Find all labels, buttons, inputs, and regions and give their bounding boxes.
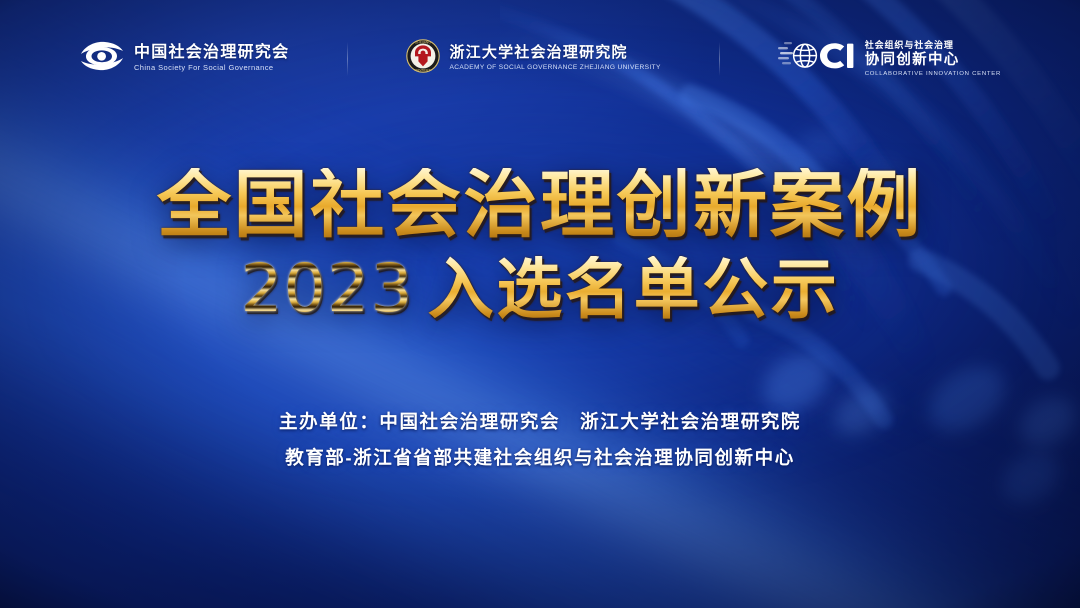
logo-name-cn: 浙江大学社会治理研究院 (449, 45, 660, 62)
headline-block: 全国社会治理创新案例 2023 入选名单公示 (0, 168, 1080, 322)
headline-line-2: 2023 入选名单公示 (0, 256, 1080, 322)
organizers-block: 主办单位：中国社会治理研究会 浙江大学社会治理研究院 教育部-浙江省省部共建社会… (0, 404, 1080, 476)
logo-text-block: 浙江大学社会治理研究院 ACADEMY OF SOCIAL GOVERNANCE… (449, 45, 660, 71)
logo-academy-of-social-governance-zju: ZHEJIANG UNIVERSITY 浙江大学社会治理研究院 ACADEMY … (406, 39, 660, 78)
zhejiang-university-seal-icon: ZHEJIANG UNIVERSITY (406, 39, 440, 78)
logo-name-cn: 中国社会治理研究会 (134, 44, 290, 62)
sponsor-logo-bar: 中国社会治理研究会 China Society For Social Gover… (0, 38, 1080, 79)
logo-name-en: ACADEMY OF SOCIAL GOVERNANCE ZHEJIANG UN… (449, 64, 660, 71)
swoosh-eye-icon (79, 39, 125, 78)
svg-text:ZHEJIANG: ZHEJIANG (416, 41, 432, 45)
logo-collaborative-innovation-center: 社会组织与社会治理 协同创新中心 COLLABORATIVE INNOVATIO… (778, 38, 1001, 79)
logo-name-en: COLLABORATIVE INNOVATION CENTER (865, 71, 1001, 78)
headline-year: 2023 (240, 256, 413, 322)
svg-text:UNIVERSITY: UNIVERSITY (415, 68, 433, 72)
headline-line-1: 全国社会治理创新案例 (0, 168, 1080, 242)
logo-china-society-for-social-governance: 中国社会治理研究会 China Society For Social Gover… (79, 39, 290, 78)
logo-name-en: China Society For Social Governance (134, 64, 290, 72)
logo-divider (719, 42, 720, 76)
logo-name-cn-big: 协同创新中心 (865, 51, 1001, 70)
headline-line-2-suffix: 入选名单公示 (428, 256, 840, 322)
organizer-line-1: 主办单位：中国社会治理研究会 浙江大学社会治理研究院 (0, 404, 1080, 440)
organizer-line-2: 教育部-浙江省省部共建社会组织与社会治理协同创新中心 (0, 440, 1080, 476)
logo-text-block: 中国社会治理研究会 China Society For Social Gover… (134, 44, 290, 73)
logo-divider (347, 42, 348, 76)
logo-text-block: 社会组织与社会治理 协同创新中心 COLLABORATIVE INNOVATIO… (865, 40, 1001, 78)
logo-name-cn-small: 社会组织与社会治理 (865, 40, 1001, 51)
poster-banner: 中国社会治理研究会 China Society For Social Gover… (0, 0, 1080, 608)
cic-globe-icon (778, 38, 856, 79)
